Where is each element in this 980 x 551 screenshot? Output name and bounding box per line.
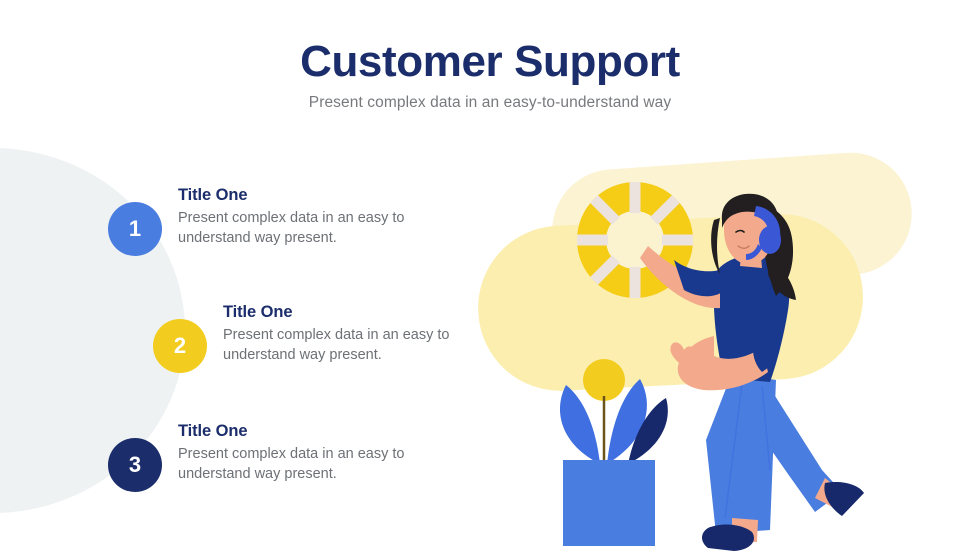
customer-support-illustration xyxy=(470,140,980,551)
list-item-badge-1: 1 xyxy=(108,202,162,256)
page-subtitle: Present complex data in an easy-to-under… xyxy=(0,94,980,112)
list-item-text-3: Title One Present complex data in an eas… xyxy=(178,422,428,484)
list-item-title: Title One xyxy=(178,422,428,441)
list-item-badge-2: 2 xyxy=(153,319,207,373)
list-item-text-2: Title One Present complex data in an eas… xyxy=(223,303,470,365)
list-item-badge-3: 3 xyxy=(108,438,162,492)
page-title: Customer Support xyxy=(0,38,980,86)
list-item-description: Present complex data in an easy to under… xyxy=(178,445,428,484)
list-item[interactable]: 2 Title One Present complex data in an e… xyxy=(153,303,470,373)
list-item-description: Present complex data in an easy to under… xyxy=(223,326,470,365)
list-item[interactable]: 3 Title One Present complex data in an e… xyxy=(108,422,428,492)
list-item-text-1: Title One Present complex data in an eas… xyxy=(178,186,428,248)
list-item-title: Title One xyxy=(223,303,470,322)
list-item[interactable]: 1 Title One Present complex data in an e… xyxy=(108,186,428,256)
slide: Customer Support Present complex data in… xyxy=(0,0,980,551)
list-item-title: Title One xyxy=(178,186,428,205)
list-item-description: Present complex data in an easy to under… xyxy=(178,209,428,248)
slide-header: Customer Support Present complex data in… xyxy=(0,38,980,112)
